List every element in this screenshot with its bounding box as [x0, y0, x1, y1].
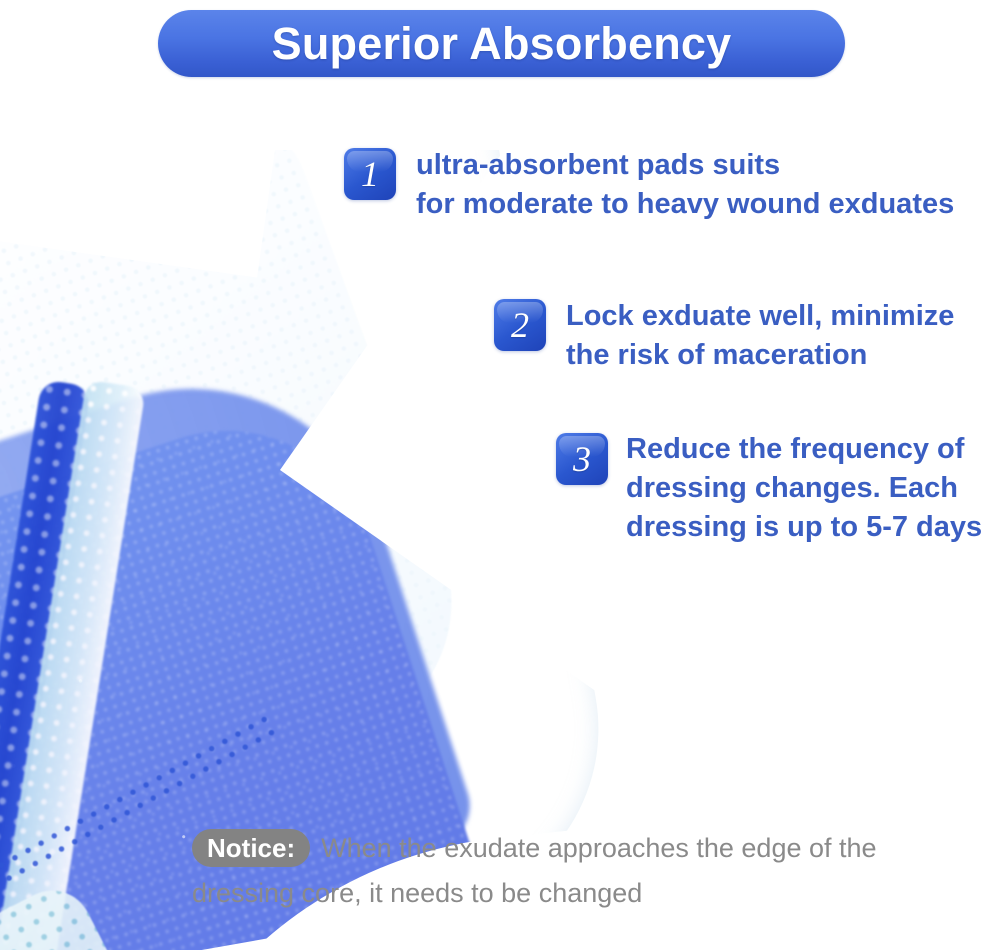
feature-number-badge-2: 2 [494, 299, 546, 351]
feature-3-line-2: dressing changes. Each [626, 469, 982, 508]
feature-3-line-1: Reduce the frequency of [626, 430, 982, 469]
feature-3-text: Reduce the frequency of dressing changes… [626, 430, 982, 547]
page-title: Superior Absorbency [272, 18, 732, 70]
title-banner: Superior Absorbency [158, 10, 845, 77]
dressing-outer-mesh-strip [0, 379, 146, 950]
notice-first-row: Notice: When the exudate approaches the … [192, 826, 952, 870]
photo-mask-top-left [0, 150, 297, 278]
notice-block: Notice: When the exudate approaches the … [192, 826, 952, 915]
dressing-white-absorbent-core [0, 150, 491, 904]
feature-2-text: Lock exduate well, minimize the risk of … [566, 297, 954, 375]
feature-2-badge-wrap: 2 [494, 299, 546, 351]
feature-2-line-2: the risk of maceration [566, 336, 954, 375]
feature-3-line-3: dressing is up to 5-7 days [626, 508, 982, 547]
feature-number-badge-3: 3 [556, 433, 608, 485]
feature-number-badge-1: 1 [344, 148, 396, 200]
feature-1-badge-wrap: 1 [344, 148, 396, 200]
dressing-saturated-edge-strip [0, 379, 91, 950]
notice-text-line-1: When the exudate approaches the edge of … [321, 826, 876, 870]
feature-1-line-2: for moderate to heavy wound exduates [416, 185, 954, 224]
notice-label-badge: Notice: [192, 829, 310, 867]
dressing-mesh-bottom-left [0, 877, 138, 950]
notice-text-line-2: dressing core, it needs to be changed [192, 871, 952, 915]
feature-item-2: 2 Lock exduate well, minimize the risk o… [494, 299, 954, 375]
feature-item-3: 3 Reduce the frequency of dressing chang… [556, 433, 982, 547]
feature-1-line-1: ultra-absorbent pads suits [416, 146, 954, 185]
feature-2-line-1: Lock exduate well, minimize [566, 297, 954, 336]
photo-mask-top-right [280, 150, 600, 837]
feature-3-badge-wrap: 3 [556, 433, 608, 485]
feature-item-1: 1 ultra-absorbent pads suits for moderat… [344, 148, 954, 224]
feature-1-text: ultra-absorbent pads suits for moderate … [416, 146, 954, 224]
